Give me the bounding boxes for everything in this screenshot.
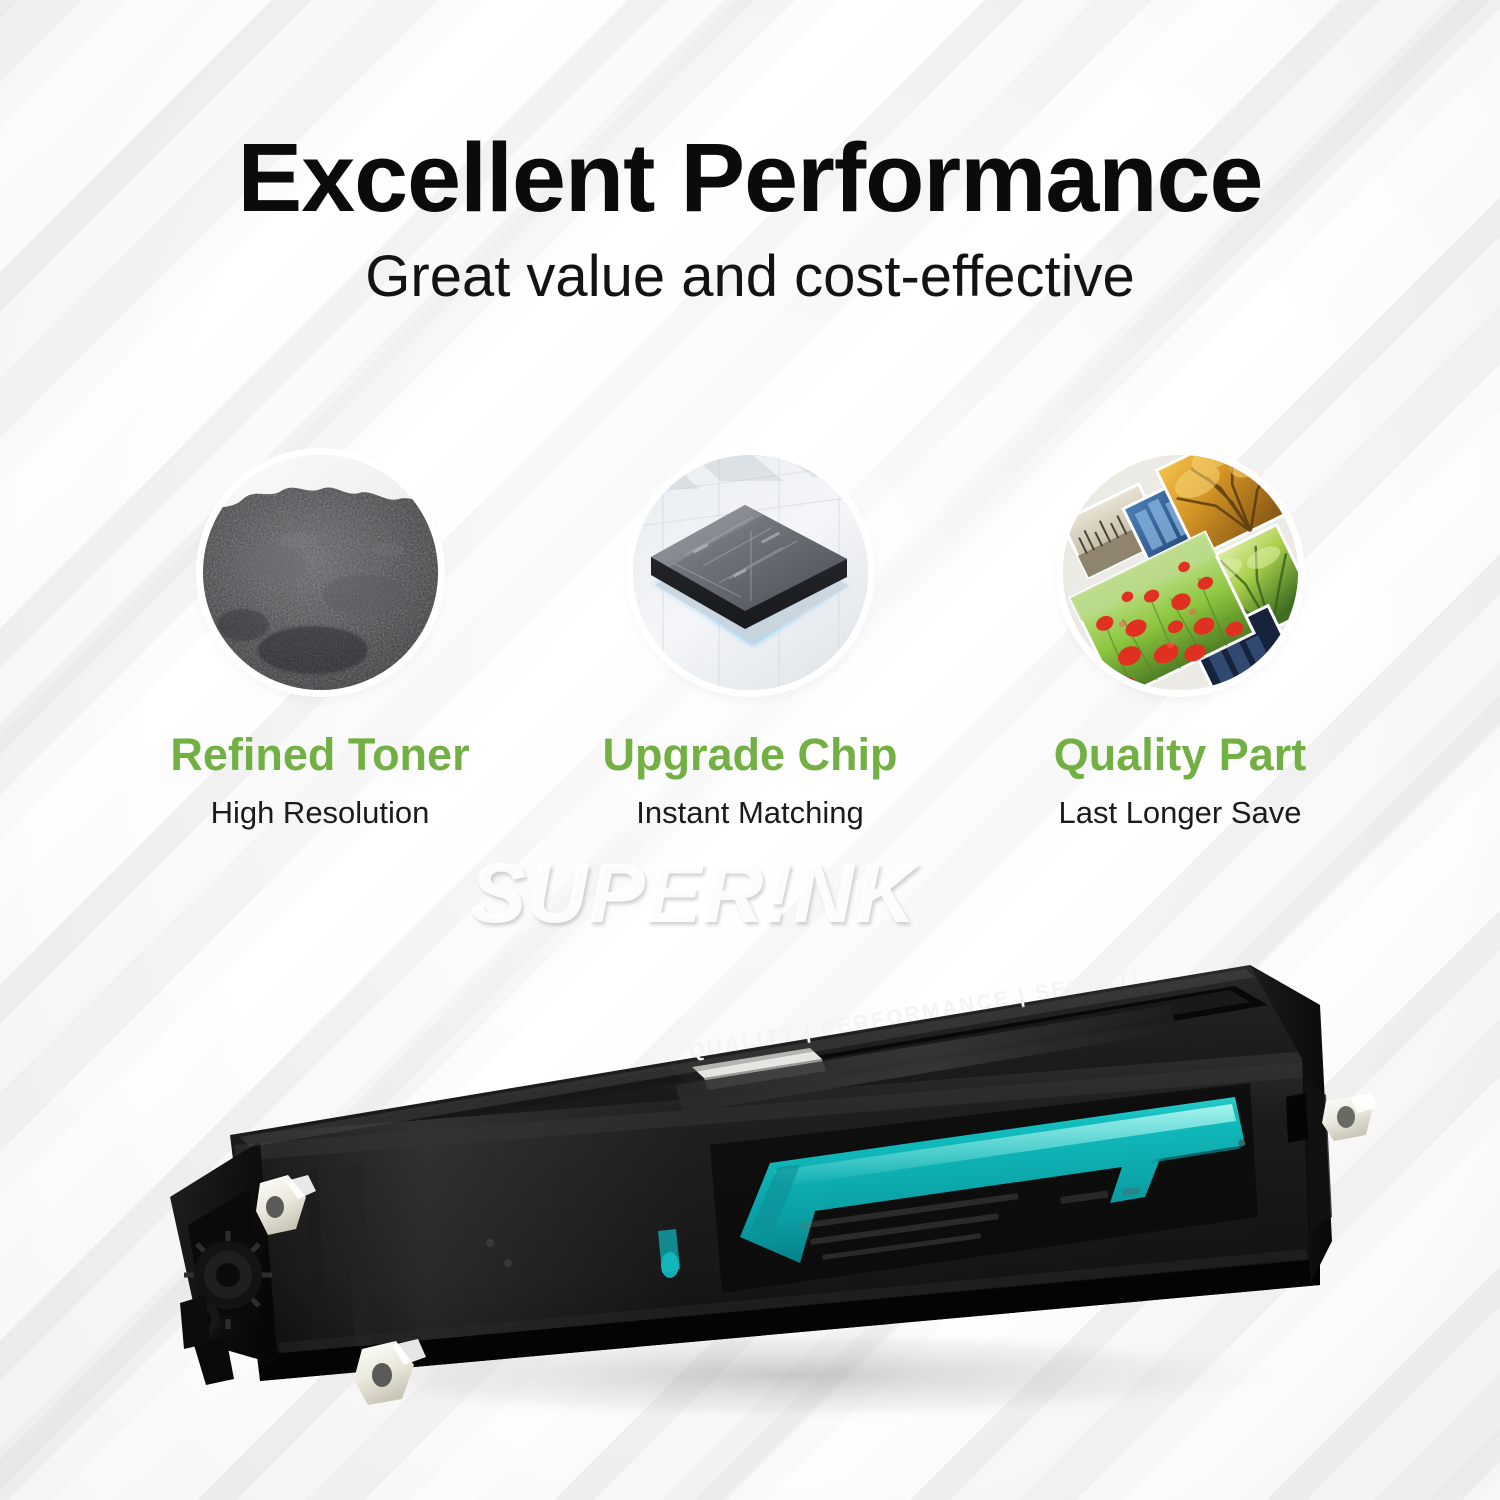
feature-title: Refined Toner	[170, 732, 469, 777]
toner-powder-icon	[203, 455, 438, 690]
page-title: Excellent Performance	[0, 128, 1500, 229]
right-end-knob	[1322, 1093, 1378, 1141]
feature-subtitle: Last Longer Save	[1058, 797, 1301, 828]
feature-item-quality-part: Quality Part Last Longer Save	[980, 455, 1380, 828]
cartridge-body: QUALITY | PERFORMANCE | SELECTION	[110, 845, 1378, 1405]
printed-photos-icon	[1063, 455, 1298, 690]
page-subtitle: Great value and cost-effective	[0, 247, 1500, 308]
feature-row: Refined Toner High Resolution	[120, 455, 1380, 828]
feature-title: Quality Part	[1054, 732, 1307, 777]
feature-subtitle: Instant Matching	[636, 797, 863, 828]
feature-title: Upgrade Chip	[602, 732, 897, 777]
product-image-toner-cartridge: QUALITY | PERFORMANCE | SELECTION	[110, 845, 1400, 1445]
feature-subtitle: High Resolution	[211, 797, 430, 828]
feature-item-refined-toner: Refined Toner High Resolution	[120, 455, 520, 828]
headings-block: Excellent Performance Great value and co…	[0, 128, 1500, 308]
feature-item-upgrade-chip: Upgrade Chip Instant Matching	[550, 455, 950, 828]
promo-image-canvas: Excellent Performance Great value and co…	[0, 0, 1500, 1500]
cartridge-left-end	[170, 1141, 278, 1385]
microchip-icon	[633, 455, 868, 690]
